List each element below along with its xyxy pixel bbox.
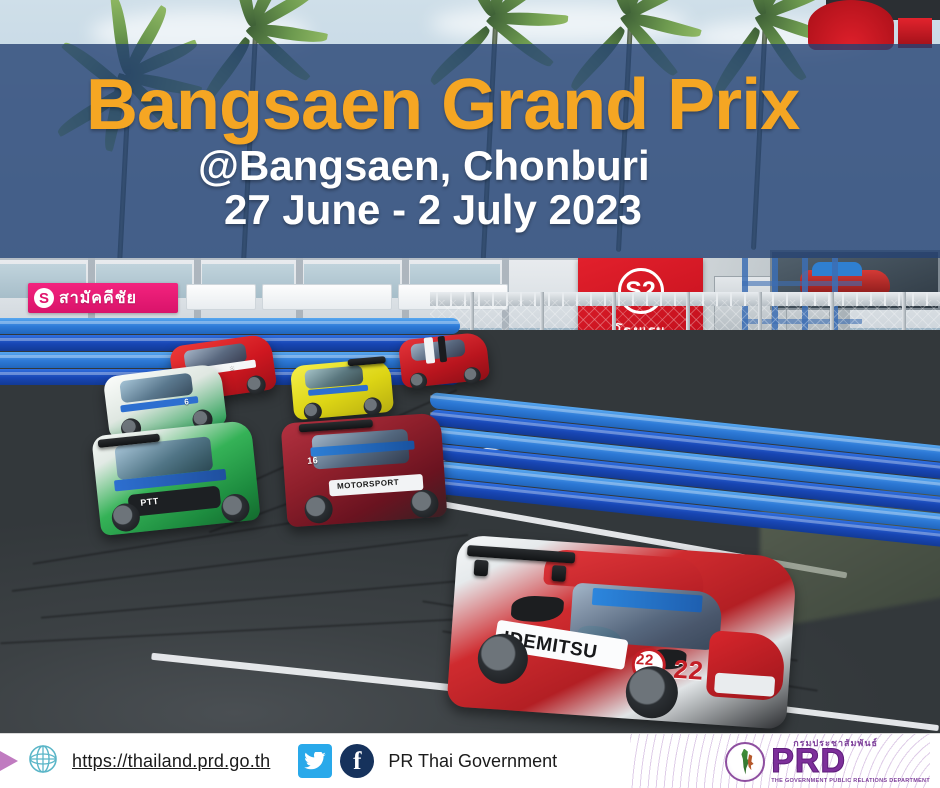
event-dates: 27 June - 2 July 2023 [224,188,940,232]
prd-acronym: PRD [771,744,930,778]
event-location: @Bangsaen, Chonburi [198,144,940,188]
race-car-yellow-hatchback [290,358,394,421]
race-car-idemitsu: IDEMITSU 22 22 [446,534,797,729]
sponsor-banner-pink: S สามัคคีชัย [28,283,178,313]
twitter-icon[interactable] [298,744,332,778]
footer-bar: https://thailand.prd.go.th f PR Thai Gov… [0,733,940,788]
race-car-red-sedan-rear [398,332,491,389]
website-link[interactable]: https://thailand.prd.go.th [72,751,270,772]
sponsor-banner-text: สามัคคีชัย [59,286,137,311]
social-account-label: PR Thai Government [388,751,557,772]
red-canopy [808,0,894,50]
page-title: Bangsaen Grand Prix [86,70,940,141]
sponsor-mark-icon: S [34,288,54,308]
prd-seal-icon [725,742,765,782]
race-car-green: PTT [91,420,261,536]
prd-tagline: THE GOVERNMENT PUBLIC RELATIONS DEPARTME… [771,779,930,785]
globe-icon [28,744,58,779]
title-overlay-banner: Bangsaen Grand Prix @Bangsaen, Chonburi … [0,44,940,258]
white-banner [262,284,392,310]
white-banner [186,284,256,310]
decorative-arrow [0,742,18,780]
prd-logo: กรมประชาสัมพันธ์ PRD THE GOVERNMENT PUBL… [725,734,930,788]
race-car-maroon: MOTORSPORT 16 [281,413,448,528]
facebook-icon[interactable]: f [340,744,374,778]
car-number-label: 22 [672,654,704,687]
poster-root: S สามัคคีชัย S2 โรงแรม www.s2-hotel.com … [0,0,940,788]
